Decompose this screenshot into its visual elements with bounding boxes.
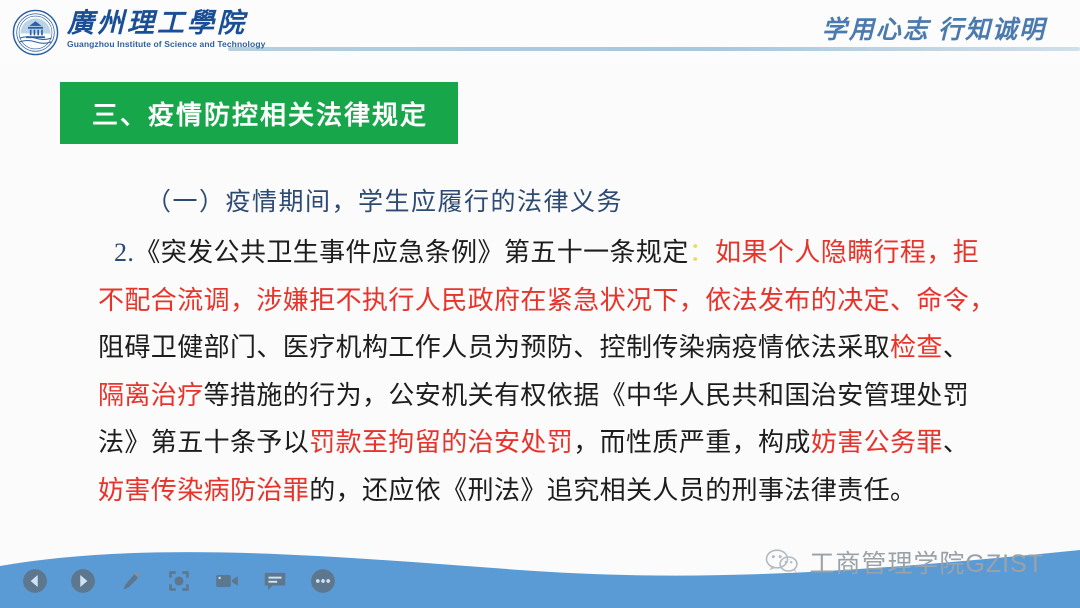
section-banner: 三、疫情防控相关法律规定 xyxy=(60,82,458,144)
body-text-segment: 隔离治疗 xyxy=(98,381,204,410)
watermark-text: 工商管理学院GZIST xyxy=(809,544,1044,580)
body-line: 法》第五十条予以罚款至拘留的治安处罚，而性质严重，构成妨害公务罪、 xyxy=(98,419,1028,467)
body-line: 隔离治疗等措施的行为，公安机关有权依据《中华人民共和国治安管理处罚 xyxy=(98,372,1028,420)
slide-header: 廣州理工學院 Guangzhou Institute of Science an… xyxy=(0,0,1080,64)
university-name-cn: 廣州理工學院 xyxy=(67,8,265,38)
university-name-en: Guangzhou Institute of Science and Techn… xyxy=(67,39,265,49)
slide-root: 廣州理工學院 Guangzhou Institute of Science an… xyxy=(0,0,1080,608)
playback-toolbar[interactable] xyxy=(22,568,336,594)
arrow-left-circle-icon xyxy=(22,568,48,594)
body-text-segment: 法》第五十条予以 xyxy=(98,428,309,457)
section-subtitle: （一）疫情期间，学生应履行的法律义务 xyxy=(146,182,623,218)
body-text-segment: 等措施的行为，公安机关有权依据《中华人民共和国治安管理处罚 xyxy=(204,381,970,410)
video-camera-icon xyxy=(214,568,240,594)
wechat-icon xyxy=(765,548,799,576)
pen-icon xyxy=(118,568,144,594)
annotate-pen-button[interactable] xyxy=(118,568,144,594)
wechat-watermark: 工商管理学院GZIST xyxy=(765,544,1044,580)
body-text-segment: ，而性质严重，构成 xyxy=(573,428,811,457)
body-text-segment: 妨害传染病防治罪 xyxy=(98,476,309,505)
camera-focus-icon xyxy=(166,568,192,594)
body-text-segment: 、 xyxy=(943,333,969,362)
comment-button[interactable] xyxy=(262,568,288,594)
body-paragraph: 2.《突发公共卫生事件应急条例》第五十一条规定：如果个人隐瞒行程，拒不配合流调，… xyxy=(98,229,1028,514)
university-slogan: 学用心志 行知诚明 xyxy=(822,10,1046,46)
header-divider-rule xyxy=(228,47,1080,51)
body-text-segment: 妨害公务罪 xyxy=(811,428,943,457)
speech-bubble-icon xyxy=(262,568,288,594)
ellipsis-circle-icon xyxy=(310,568,336,594)
body-text-segment: ： xyxy=(689,238,715,267)
previous-slide-button[interactable] xyxy=(22,568,48,594)
play-circle-icon xyxy=(70,568,96,594)
body-text-segment: 《突发公共卫生事件应急条例》第五十一条规定 xyxy=(134,238,688,267)
university-logo-text: 廣州理工學院 Guangzhou Institute of Science an… xyxy=(67,8,265,49)
body-text-segment: 如果个人隐瞒行程，拒 xyxy=(715,238,979,267)
body-text-segment: 检查 xyxy=(890,333,943,362)
university-logo: 廣州理工學院 Guangzhou Institute of Science an… xyxy=(12,8,265,56)
record-video-button[interactable] xyxy=(214,568,240,594)
screenshot-button[interactable] xyxy=(166,568,192,594)
body-line: 2.《突发公共卫生事件应急条例》第五十一条规定：如果个人隐瞒行程，拒 xyxy=(98,229,1028,277)
university-crest-icon xyxy=(12,9,59,56)
body-text-segment: 罚款至拘留的治安处罚 xyxy=(309,428,573,457)
body-text-segment: 阻碍卫健部门、医疗机构工作人员为预防、控制传染病疫情依法采取 xyxy=(98,333,890,362)
body-text-segment: 不配合流调，涉嫌拒不执行人民政府在紧急状况下，依法发布的决定、命令， xyxy=(98,286,996,315)
more-options-button[interactable] xyxy=(310,568,336,594)
section-banner-title: 三、疫情防控相关法律规定 xyxy=(92,95,428,132)
body-line: 妨害传染病防治罪的，还应依《刑法》追究相关人员的刑事法律责任。 xyxy=(98,467,1028,515)
body-line: 不配合流调，涉嫌拒不执行人民政府在紧急状况下，依法发布的决定、命令， xyxy=(98,277,1028,325)
play-button[interactable] xyxy=(70,568,96,594)
body-text-segment: 、 xyxy=(943,428,969,457)
body-line: 阻碍卫健部门、医疗机构工作人员为预防、控制传染病疫情依法采取检查、 xyxy=(98,324,1028,372)
body-text-segment: 2. xyxy=(114,238,134,267)
body-text-segment: 的，还应依《刑法》追究相关人员的刑事法律责任。 xyxy=(309,476,916,505)
